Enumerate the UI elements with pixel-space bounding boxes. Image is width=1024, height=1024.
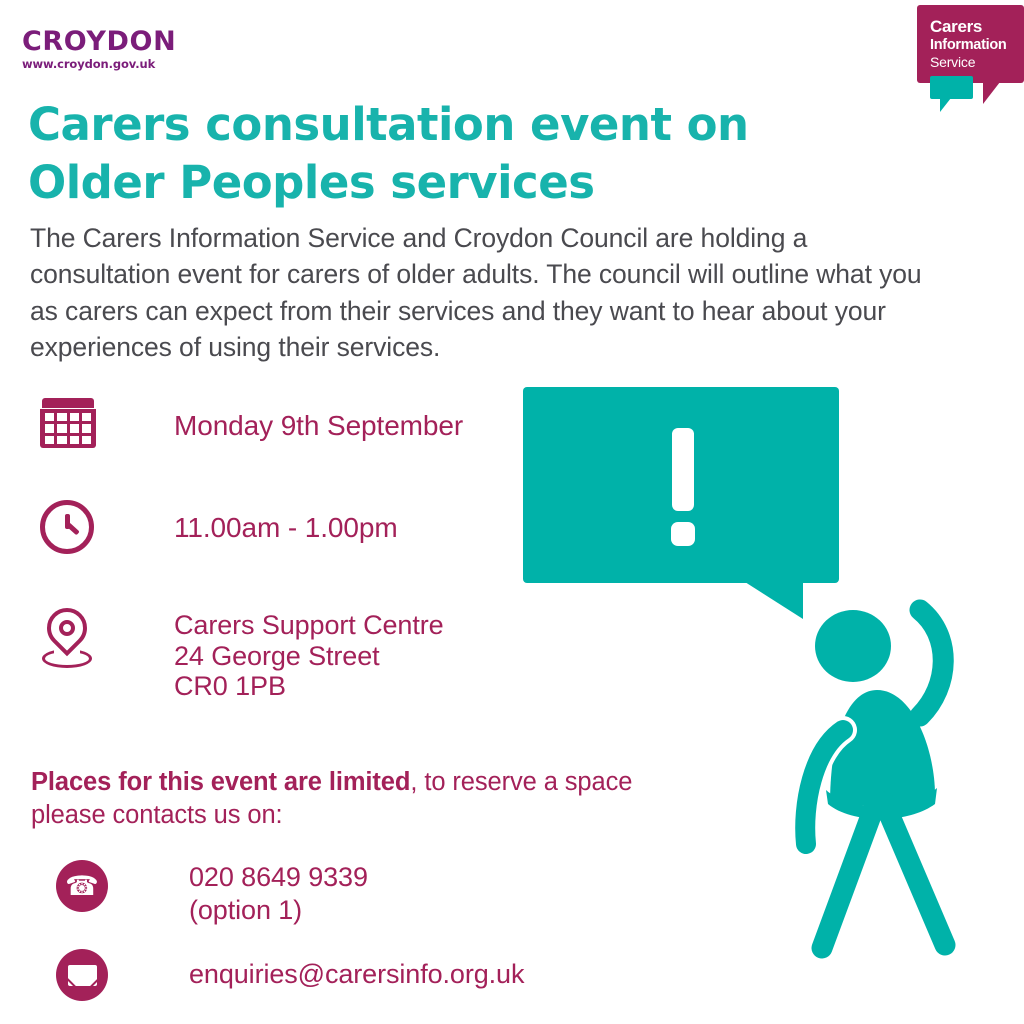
phone-icon: ☎: [56, 860, 108, 912]
croydon-website-url: www.croydon.gov.uk: [22, 59, 176, 71]
venue-name: Carers Support Centre: [174, 610, 444, 641]
limited-places-rest: , to reserve a space: [410, 768, 632, 796]
page-title: Carers consultation event on Older Peopl…: [28, 96, 858, 211]
exclamation-mark-bar: [672, 428, 694, 511]
clock-icon: [40, 500, 100, 554]
badge-accent-bubble-tail: [940, 98, 951, 112]
location-pin-icon: [40, 608, 100, 670]
venue-postcode: CR0 1PB: [174, 671, 444, 702]
event-time-row: 11.00am - 1.00pm: [40, 500, 398, 554]
raised-arm-shape: [920, 610, 943, 716]
walking-person-illustration: [780, 590, 1024, 970]
back-leg-shape: [822, 802, 876, 948]
badge-accent-bubble-shape: [930, 76, 973, 99]
event-date-text: Monday 9th September: [174, 410, 463, 441]
calendar-icon: [40, 398, 100, 448]
croydon-logo: CROYDON www.croydon.gov.uk: [22, 28, 176, 71]
phone-number[interactable]: 020 8649 9339: [189, 861, 368, 894]
carers-information-service-badge: Carers Information Service: [917, 5, 1024, 113]
event-time-text: 11.00am - 1.00pm: [174, 512, 398, 543]
phone-option: (option 1): [189, 894, 368, 927]
exclamation-mark-dot: [671, 522, 695, 546]
event-location-row: Carers Support Centre 24 George Street C…: [40, 608, 444, 702]
badge-speech-bubble-tail: [983, 82, 1000, 104]
walking-person-svg: [780, 590, 1024, 970]
limited-places-notice: Places for this event are limited, to re…: [31, 766, 721, 832]
page-title-line-1: Carers consultation event on: [28, 98, 749, 151]
croydon-wordmark: CROYDON: [22, 28, 176, 55]
limited-places-line-2: please contacts us on:: [31, 801, 283, 829]
phone-contact-text: 020 8649 9339 (option 1): [189, 861, 368, 927]
badge-line-carers: Carers: [930, 17, 1006, 37]
limited-places-emphasis: Places for this event are limited: [31, 768, 410, 796]
front-leg-shape: [884, 802, 945, 945]
badge-text-block: Carers Information Service: [930, 17, 1006, 71]
page-title-line-2: Older Peoples services: [28, 156, 595, 209]
email-address[interactable]: enquiries@carersinfo.org.uk: [189, 958, 524, 991]
badge-line-service: Service: [930, 54, 1006, 71]
envelope-icon: [56, 949, 108, 1001]
event-location-text: Carers Support Centre 24 George Street C…: [174, 610, 444, 702]
event-date-row: Monday 9th September: [40, 398, 463, 448]
head-shape: [815, 610, 891, 682]
email-contact-row[interactable]: enquiries@carersinfo.org.uk: [56, 949, 524, 1001]
phone-contact-row[interactable]: ☎ 020 8649 9339 (option 1): [56, 860, 368, 927]
venue-street: 24 George Street: [174, 641, 444, 672]
badge-line-information: Information: [930, 37, 1006, 54]
intro-paragraph: The Carers Information Service and Croyd…: [30, 220, 935, 365]
poster-canvas: CROYDON www.croydon.gov.uk Carers Inform…: [0, 0, 1024, 1024]
